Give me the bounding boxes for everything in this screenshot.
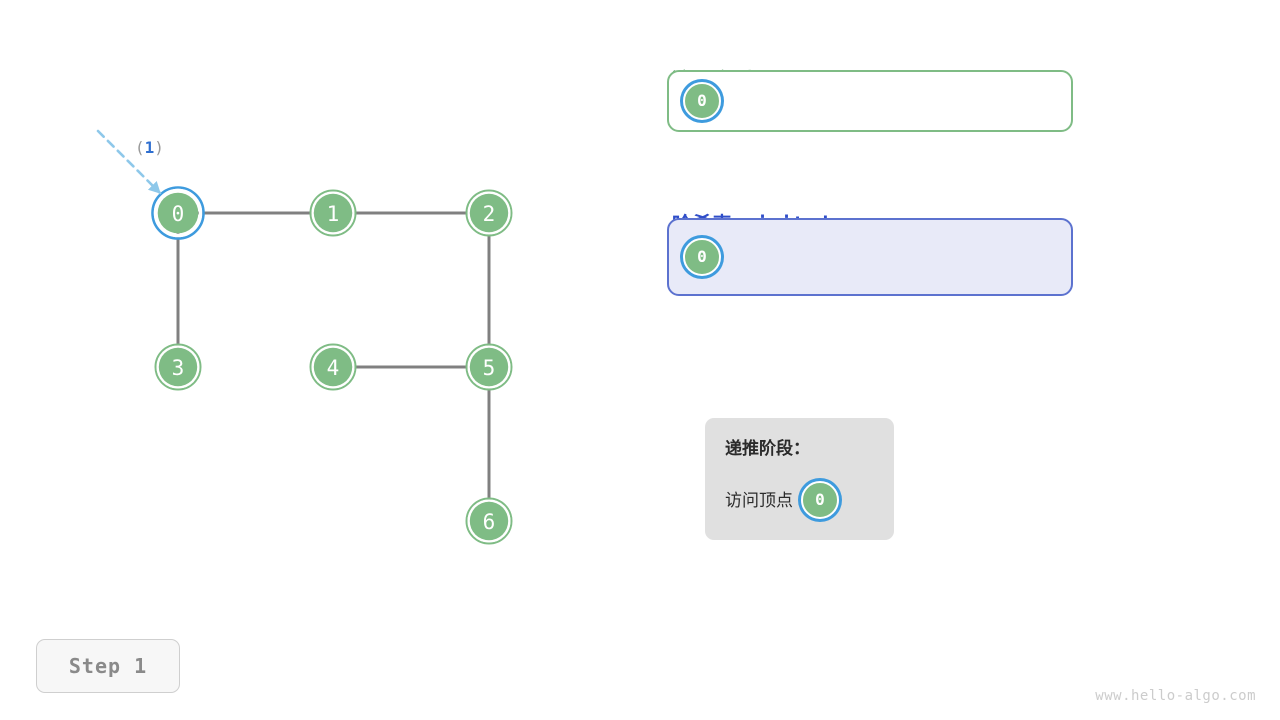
step-badge-label: Step 1 bbox=[69, 654, 147, 678]
graph-node-label-5: 5 bbox=[483, 356, 496, 380]
graph-node-0[interactable]: 0 bbox=[153, 188, 204, 239]
phase-info-heading: 递推阶段： bbox=[725, 440, 894, 457]
graph-node-2[interactable]: 2 bbox=[467, 191, 512, 236]
graph-node-label-6: 6 bbox=[483, 510, 496, 534]
visit-order-arrow: (1) bbox=[98, 131, 164, 193]
watermark: www.hello-algo.com bbox=[1095, 688, 1256, 704]
visited-item: 0 bbox=[683, 238, 721, 276]
right-panel: 遍历序列 res 0 哈希表 visited 0 递推阶段： 访问顶点 0 bbox=[640, 0, 1280, 720]
visit-order-number: 1 bbox=[145, 138, 155, 157]
phase-info-text: 访问顶点 bbox=[725, 492, 793, 509]
graph-panel: 0123456 (1) bbox=[0, 0, 640, 720]
graph-node-label-0: 0 bbox=[172, 202, 185, 226]
graph-node-label-4: 4 bbox=[327, 356, 340, 380]
res-list-box: 0 bbox=[667, 70, 1073, 132]
step-badge: Step 1 bbox=[36, 639, 180, 693]
phase-info-vertex-token: 0 bbox=[801, 481, 839, 519]
graph-node-1[interactable]: 1 bbox=[311, 191, 356, 236]
graph-node-label-3: 3 bbox=[172, 356, 185, 380]
phase-info-row: 访问顶点 0 bbox=[725, 481, 894, 519]
res-item-label: 0 bbox=[697, 93, 707, 109]
visited-hashmap-box: 0 bbox=[667, 218, 1073, 296]
graph-node-6[interactable]: 6 bbox=[467, 499, 512, 544]
graph-node-5[interactable]: 5 bbox=[467, 345, 512, 390]
phase-info-vertex-label: 0 bbox=[815, 492, 825, 508]
res-item: 0 bbox=[683, 82, 721, 120]
visit-order-label: (1) bbox=[135, 138, 164, 157]
visit-order-paren-open: ( bbox=[135, 138, 145, 157]
graph-canvas: 0123456 (1) bbox=[0, 0, 640, 720]
graph-node-label-1: 1 bbox=[327, 202, 340, 226]
graph-node-label-2: 2 bbox=[483, 202, 496, 226]
graph-node-4[interactable]: 4 bbox=[311, 345, 356, 390]
graph-node-3[interactable]: 3 bbox=[156, 345, 201, 390]
visited-item-label: 0 bbox=[697, 249, 707, 265]
visit-order-paren-close: ) bbox=[154, 138, 164, 157]
phase-info-box: 递推阶段： 访问顶点 0 bbox=[705, 418, 894, 540]
